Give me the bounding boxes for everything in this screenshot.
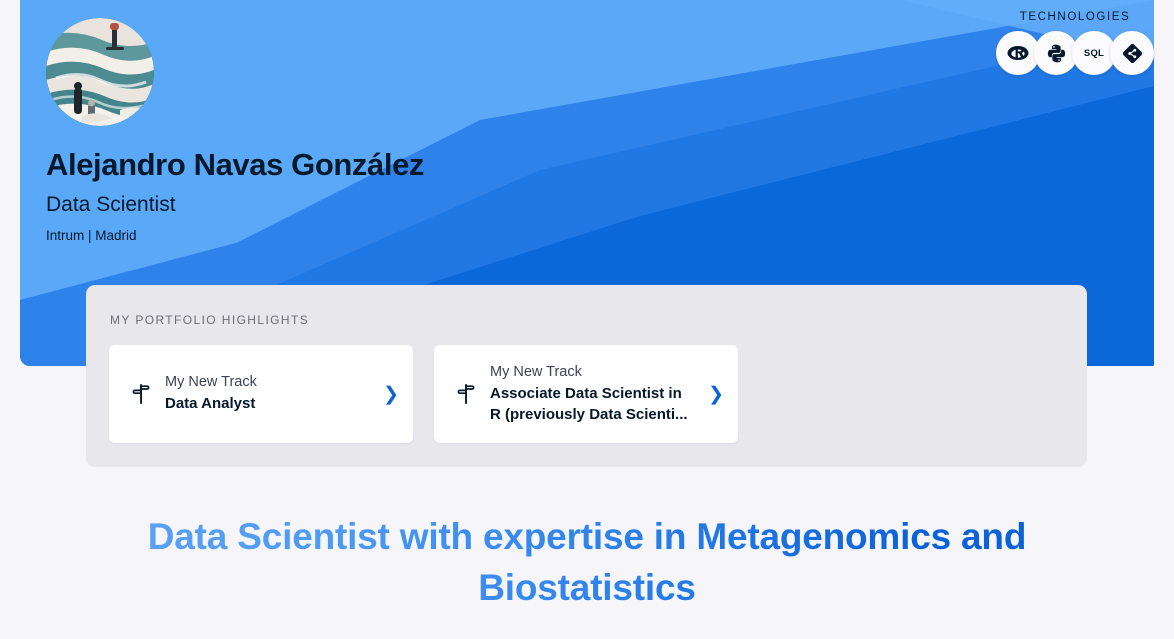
r-language-icon xyxy=(1007,44,1029,62)
python-icon xyxy=(1047,44,1066,63)
portfolio-highlights-label: MY PORTFOLIO HIGHLIGHTS xyxy=(110,313,309,327)
track-card-list: My New Track Data Analyst ❯ My New Track… xyxy=(109,345,738,443)
chevron-right-icon[interactable]: ❯ xyxy=(702,385,724,404)
track-card-name: Associate Data Scientist in R (previousl… xyxy=(490,384,688,425)
technologies-block: TECHNOLOGIES xyxy=(996,11,1154,75)
profile-block: Alejandro Navas González Data Scientist … xyxy=(46,18,424,243)
profile-company-location: Intrum | Madrid xyxy=(46,228,424,243)
track-card-text: My New Track Data Analyst xyxy=(165,373,363,414)
track-card-kicker: My New Track xyxy=(165,373,363,391)
track-signpost-icon xyxy=(131,382,151,406)
tagline-headline: Data Scientist with expertise in Metagen… xyxy=(0,512,1174,613)
portfolio-profile-page: Alejandro Navas González Data Scientist … xyxy=(0,0,1174,639)
track-card-name: Data Analyst xyxy=(165,394,363,414)
track-card[interactable]: My New Track Data Analyst ❯ xyxy=(109,345,413,443)
avatar[interactable] xyxy=(46,18,154,126)
git-icon xyxy=(1122,43,1143,64)
profile-role: Data Scientist xyxy=(46,193,424,216)
track-card[interactable]: My New Track Associate Data Scientist in… xyxy=(434,345,738,443)
technologies-icon-list: SQL xyxy=(996,31,1154,75)
chevron-right-icon[interactable]: ❯ xyxy=(377,385,399,404)
track-signpost-icon xyxy=(456,382,476,406)
tech-icon-git[interactable] xyxy=(1110,31,1154,75)
portfolio-highlights-panel: MY PORTFOLIO HIGHLIGHTS My New Track Dat… xyxy=(86,285,1087,467)
technologies-label: TECHNOLOGIES xyxy=(996,11,1154,23)
sql-icon: SQL xyxy=(1084,48,1104,59)
track-card-kicker: My New Track xyxy=(490,363,688,381)
track-card-text: My New Track Associate Data Scientist in… xyxy=(490,363,688,425)
page-title: Alejandro Navas González xyxy=(46,148,424,182)
